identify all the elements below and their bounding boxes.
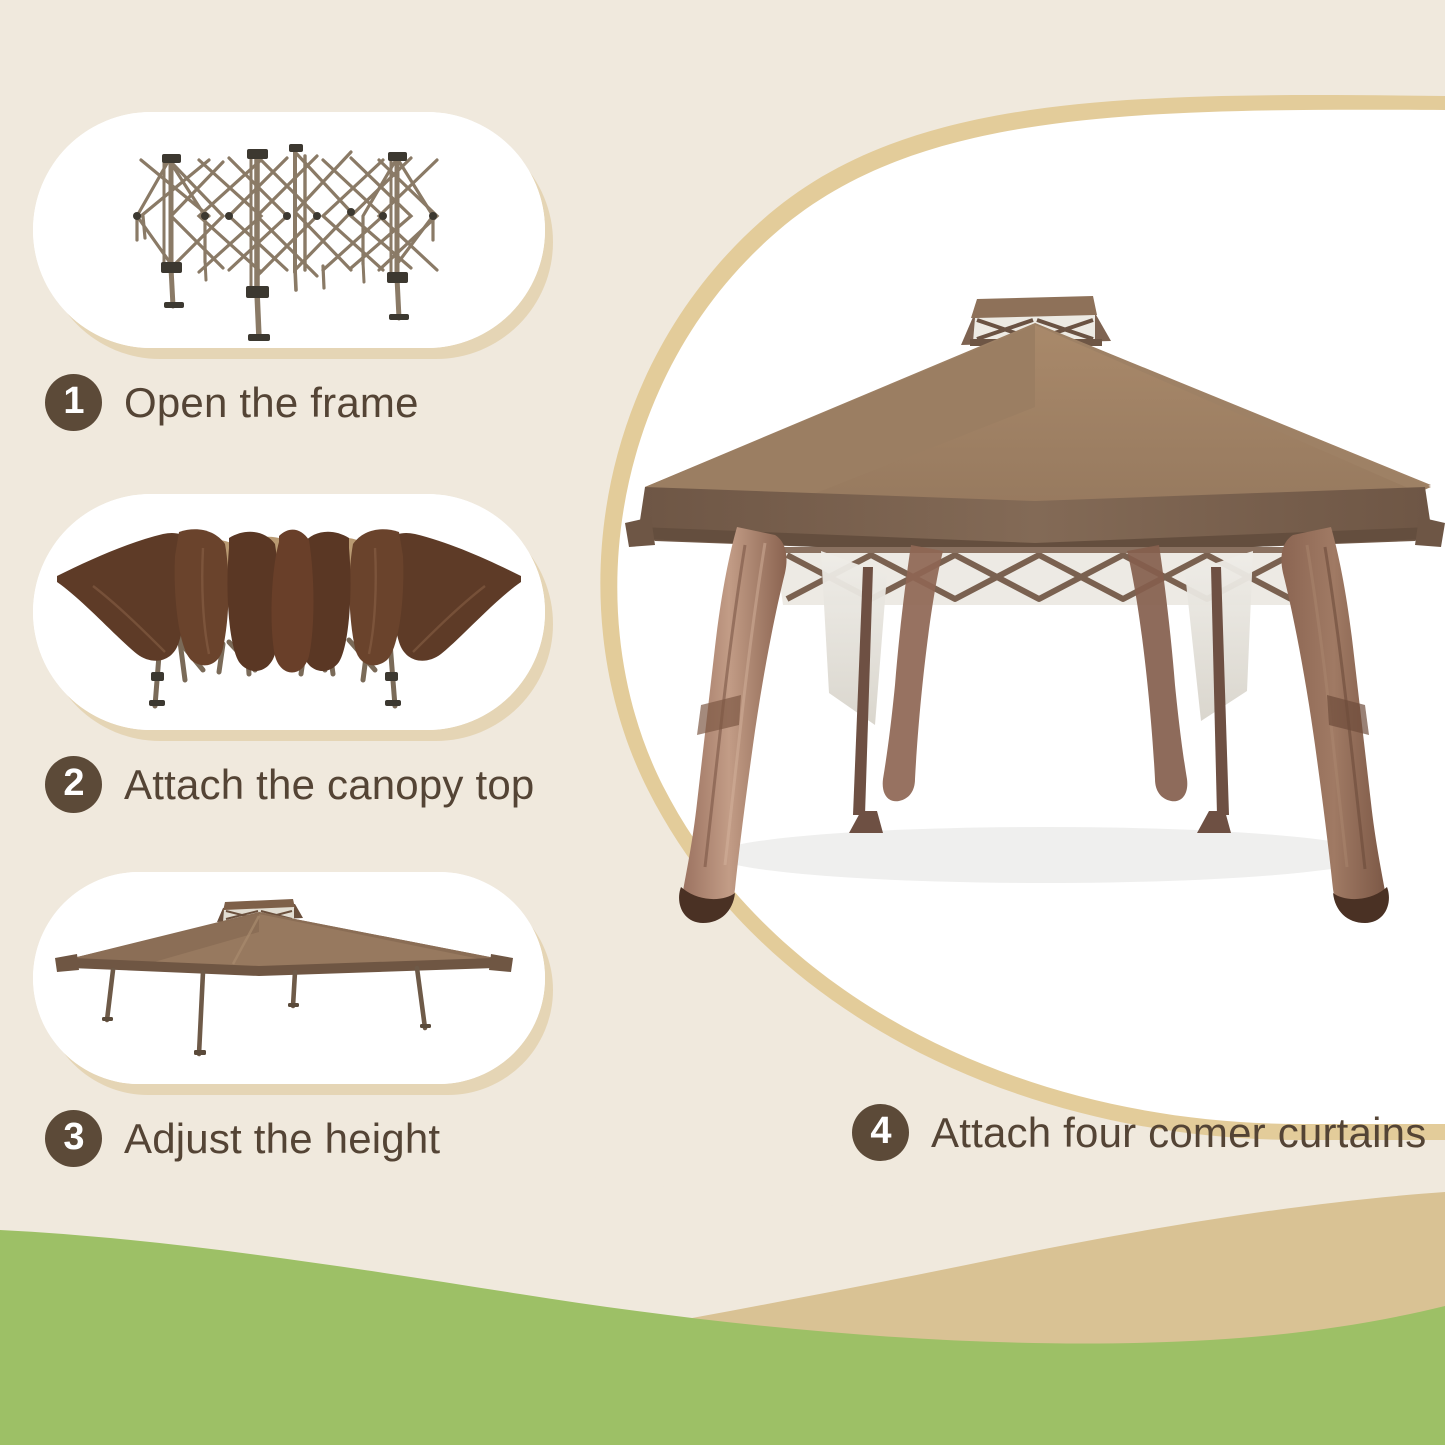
step-4-badge: 4 (852, 1104, 909, 1161)
step-3-label: Adjust the height (124, 1115, 440, 1163)
step-1-block: 1 Open the frame (0, 112, 600, 431)
step-2-card (33, 494, 545, 730)
step-1-label: Open the frame (124, 379, 419, 427)
step-2-badge: 2 (45, 756, 102, 813)
step-2-block: 2 Attach the canopy top (0, 494, 600, 813)
infographic-stage: 1 Open the frame (0, 0, 1445, 1445)
step-1-label-row: 1 Open the frame (45, 374, 600, 431)
gazebo-raised-photo (33, 872, 545, 1084)
step-2-label-row: 2 Attach the canopy top (45, 756, 600, 813)
canopy-fabric-draped-photo (33, 494, 545, 730)
step-3-badge: 3 (45, 1110, 102, 1167)
step-3-card (33, 872, 545, 1084)
collapsible-scissor-frame-photo (33, 112, 545, 348)
step-4-label: Attach four comer curtains (931, 1109, 1426, 1157)
step-3-label-row: 3 Adjust the height (45, 1110, 600, 1167)
step-2-label: Attach the canopy top (124, 761, 534, 809)
step-1-badge: 1 (45, 374, 102, 431)
finished-gazebo-hero (625, 255, 1445, 955)
step-3-block: 3 Adjust the height (0, 872, 600, 1167)
steps-column: 1 Open the frame (0, 0, 600, 1260)
step-1-card (33, 112, 545, 348)
hero-ground-shadow (715, 827, 1375, 883)
canopy-roof (625, 323, 1445, 557)
step-4-label-row: 4 Attach four comer curtains (852, 1104, 1426, 1161)
